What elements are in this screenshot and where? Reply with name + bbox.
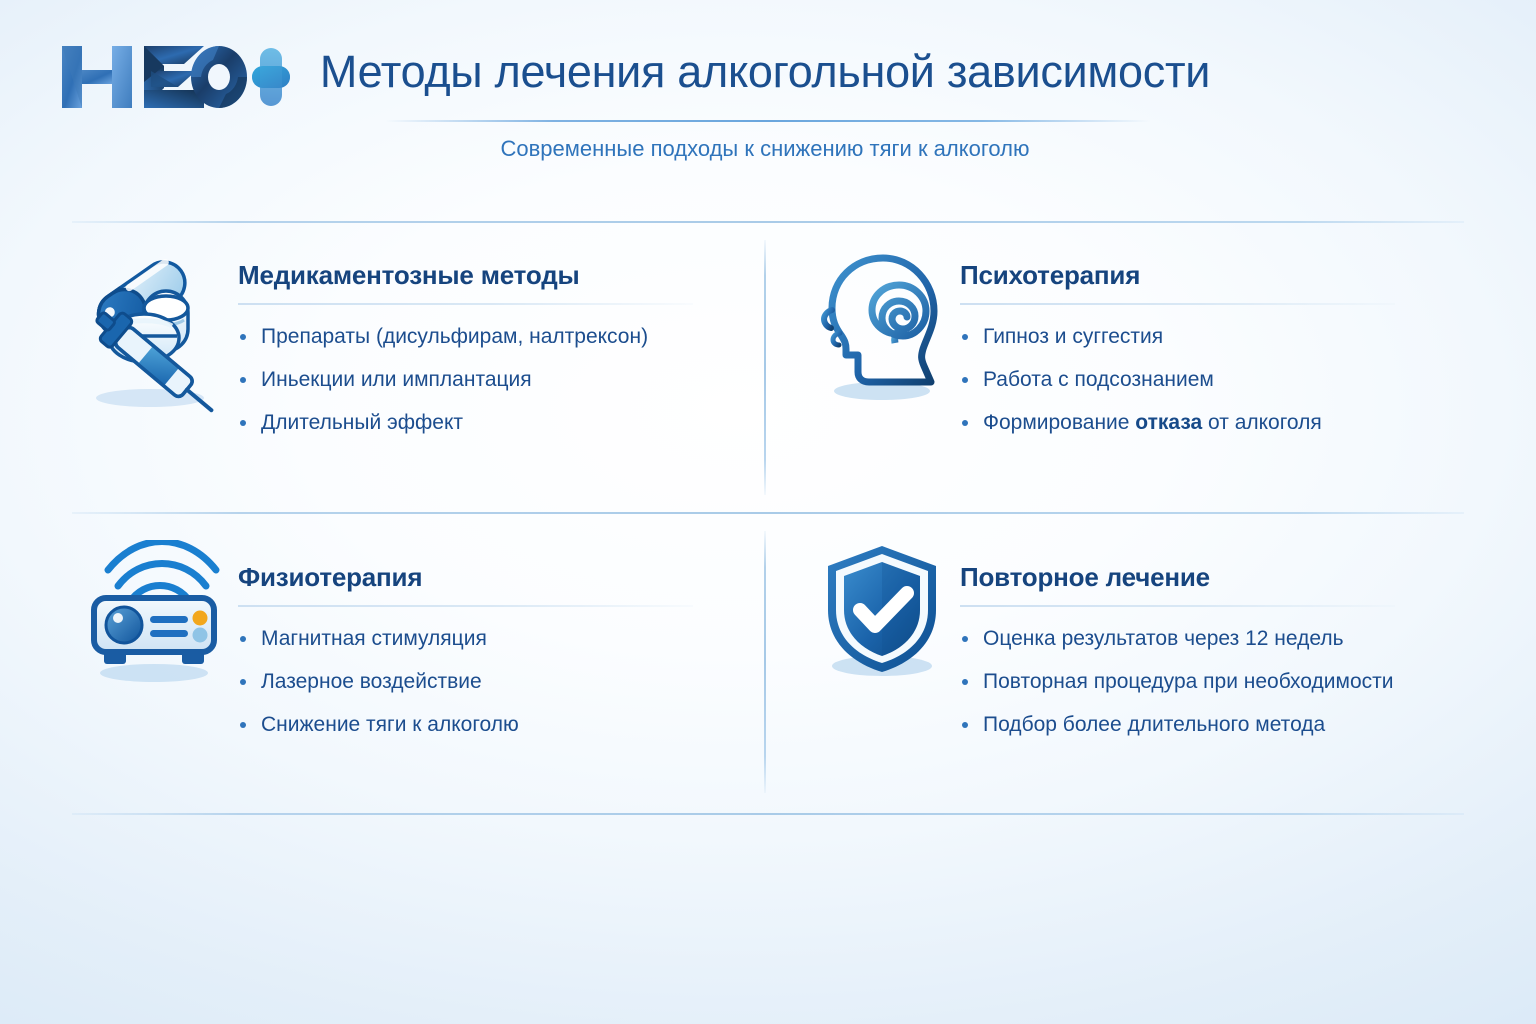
divider-top xyxy=(72,221,1464,223)
bullet-dot-icon xyxy=(962,377,968,383)
list-item: Лазерное воздействие xyxy=(238,670,748,694)
card-body: Повторное лечение Оценка результатов чер… xyxy=(960,540,1470,737)
divider-bottom xyxy=(72,813,1464,815)
divider-vertical-row1 xyxy=(764,240,766,495)
page-title: Методы лечения алкогольной зависимости xyxy=(300,46,1230,98)
bullet-dot-icon xyxy=(240,636,246,642)
card-body: Психотерапия Гипноз и суггестия Работа с… xyxy=(960,248,1470,435)
bullet-dot-icon xyxy=(240,722,246,728)
list-item: Длительный эффект xyxy=(238,411,748,435)
page-subtitle: Современные подходы к снижению тяги к ал… xyxy=(300,136,1230,162)
bullet-list-medication: Препараты (дисульфирам, налтрексон) Инье… xyxy=(238,325,748,435)
list-item-label: Подбор более длительного метода xyxy=(983,713,1325,736)
card-physiotherapy: Физиотерапия Магнитная стимуляция Лазерн… xyxy=(78,540,748,737)
list-item: Оценка результатов через 12 недель xyxy=(960,627,1470,651)
list-item-label: Препараты (дисульфирам, налтрексон) xyxy=(261,325,648,348)
card-title-repeat-treatment: Повторное лечение xyxy=(960,562,1470,593)
card-title-psychotherapy: Психотерапия xyxy=(960,260,1470,291)
list-item: Повторная процедура при необходимости xyxy=(960,670,1470,694)
card-psychotherapy: Психотерапия Гипноз и суггестия Работа с… xyxy=(810,248,1470,435)
bullet-dot-icon xyxy=(240,679,246,685)
list-item: Магнитная стимуляция xyxy=(238,627,748,651)
card-body: Физиотерапия Магнитная стимуляция Лазерн… xyxy=(238,540,748,737)
infographic-poster: Методы лечения алкогольной зависимости С… xyxy=(0,0,1536,1024)
card-title-divider xyxy=(960,303,1395,305)
card-medication: Медикаментозные методы Препараты (дисуль… xyxy=(78,248,748,435)
bullet-dot-icon xyxy=(962,636,968,642)
divider-middle xyxy=(72,512,1464,514)
list-item: Препараты (дисульфирам, налтрексон) xyxy=(238,325,748,349)
list-item-label: Иньекции или имплантация xyxy=(261,368,532,391)
card-title-divider xyxy=(960,605,1395,607)
bullet-dot-icon xyxy=(240,377,246,383)
list-item: Работа с подсознанием xyxy=(960,368,1470,392)
card-title-divider xyxy=(238,303,693,305)
list-item-label: Снижение тяги к алкоголю xyxy=(261,713,519,736)
brand-logo xyxy=(56,38,291,116)
bullet-dot-icon xyxy=(962,334,968,340)
bullet-list-repeat-treatment: Оценка результатов через 12 недель Повто… xyxy=(960,627,1470,737)
list-item: Гипноз и суггестия xyxy=(960,325,1470,349)
list-item-label: Лазерное воздействие xyxy=(261,670,482,693)
shield-check-icon xyxy=(810,540,960,705)
list-item-label: Формирование отказа от алкоголя xyxy=(983,411,1322,434)
bullet-dot-icon xyxy=(962,722,968,728)
header: Методы лечения алкогольной зависимости С… xyxy=(0,0,1536,200)
card-title-medication: Медикаментозные методы xyxy=(238,260,748,291)
list-item-label: Повторная процедура при необходимости xyxy=(983,670,1393,693)
bullet-dot-icon xyxy=(962,420,968,426)
list-item: Подбор более длительного метода xyxy=(960,713,1470,737)
list-item-label: Оценка результатов через 12 недель xyxy=(983,627,1344,650)
list-item: Иньекции или имплантация xyxy=(238,368,748,392)
bullet-list-psychotherapy: Гипноз и суггестия Работа с подсознанием… xyxy=(960,325,1470,435)
list-item: Снижение тяги к алкоголю xyxy=(238,713,748,737)
title-divider xyxy=(385,120,1150,122)
heo-plus-logo-icon xyxy=(56,38,291,116)
bullet-list-physiotherapy: Магнитная стимуляция Лазерное воздействи… xyxy=(238,627,748,737)
divider-vertical-row2 xyxy=(764,531,766,793)
list-item: Формирование отказа от алкоголя xyxy=(960,411,1470,435)
bullet-dot-icon xyxy=(962,679,968,685)
card-body: Медикаментозные методы Препараты (дисуль… xyxy=(238,248,748,435)
list-item-label: Работа с подсознанием xyxy=(983,368,1214,391)
list-item-label: Гипноз и суггестия xyxy=(983,325,1163,348)
card-title-physiotherapy: Физиотерапия xyxy=(238,562,748,593)
head-spiral-icon xyxy=(810,248,960,413)
card-repeat-treatment: Повторное лечение Оценка результатов чер… xyxy=(810,540,1470,737)
pills-syringe-icon xyxy=(78,248,238,413)
bullet-dot-icon xyxy=(240,334,246,340)
device-waves-icon xyxy=(78,540,238,705)
card-title-divider xyxy=(238,605,693,607)
list-item-label: Длительный эффект xyxy=(261,411,463,434)
list-item-label: Магнитная стимуляция xyxy=(261,627,487,650)
bullet-dot-icon xyxy=(240,420,246,426)
